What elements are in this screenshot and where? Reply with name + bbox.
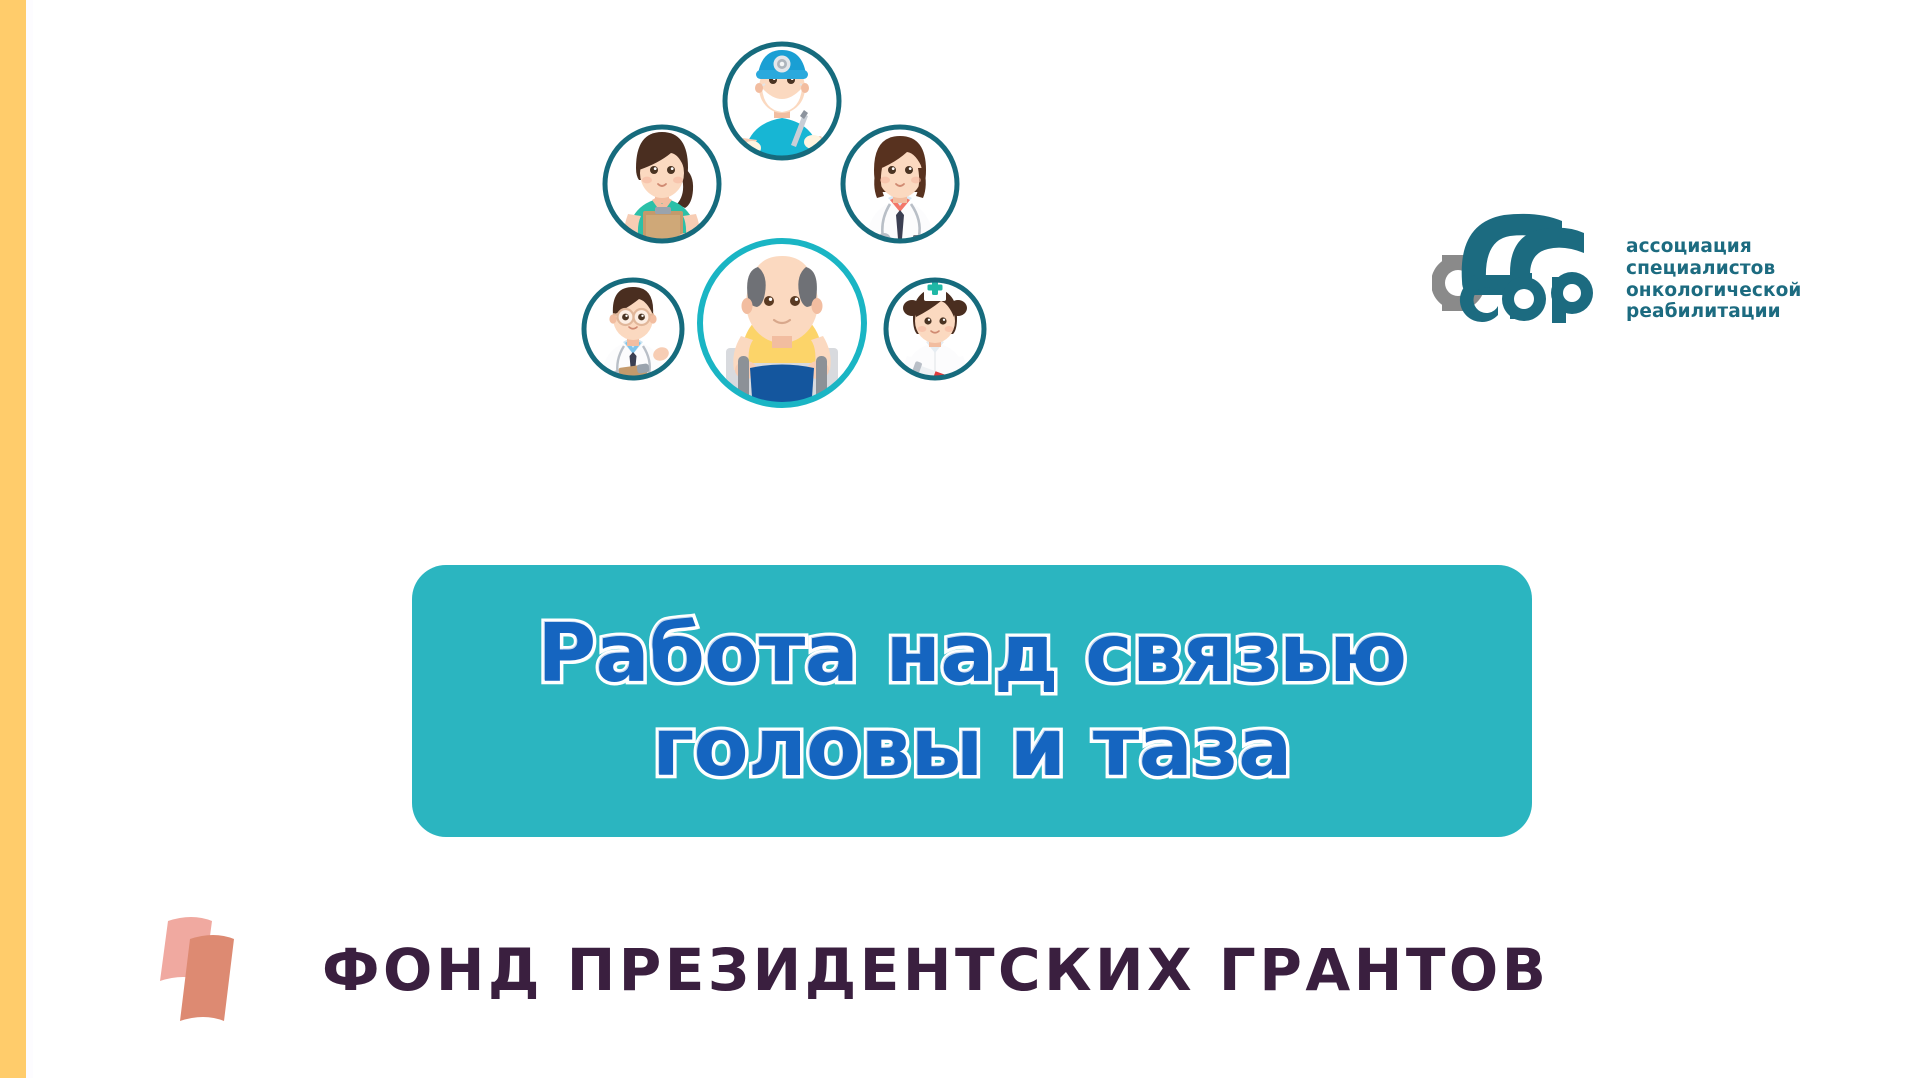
asor-logo-mark <box>1432 193 1612 323</box>
asor-line-2: специалистов <box>1626 258 1802 280</box>
title-banner: Работа над связью головы и таза <box>412 565 1532 837</box>
avatar-surgeon <box>725 44 839 170</box>
slide-root: ассоциация специалистов онкологической р… <box>0 0 1920 1078</box>
asor-line-1: ассоциация <box>1626 236 1802 258</box>
asor-logo: ассоциация специалистов онкологической р… <box>1432 190 1812 325</box>
left-accent-hairline <box>26 0 33 1078</box>
fund-flag-icon <box>150 905 280 1035</box>
asor-line-3: онкологической <box>1626 280 1802 302</box>
care-team-illustration <box>560 18 1030 438</box>
left-accent-stripe <box>0 0 26 1078</box>
title-line-1: Работа над связью <box>537 607 1406 701</box>
fund-title: ФОНД ПРЕЗИДЕНТСКИХ ГРАНТОВ <box>322 936 1549 1004</box>
title-line-2: головы и таза <box>652 701 1291 795</box>
asor-line-4: реабилитации <box>1626 301 1802 323</box>
avatar-nurse-clipboard <box>605 127 719 265</box>
avatar-male-doctor <box>584 280 682 392</box>
avatar-nurse-syringe <box>886 280 984 392</box>
presidential-grants-fund-logo: ФОНД ПРЕЗИДЕНТСКИХ ГРАНТОВ <box>150 905 1549 1035</box>
asor-logo-text: ассоциация специалистов онкологической р… <box>1626 192 1802 323</box>
avatar-patient-wheelchair <box>700 241 864 434</box>
avatar-female-doctor <box>843 127 957 250</box>
